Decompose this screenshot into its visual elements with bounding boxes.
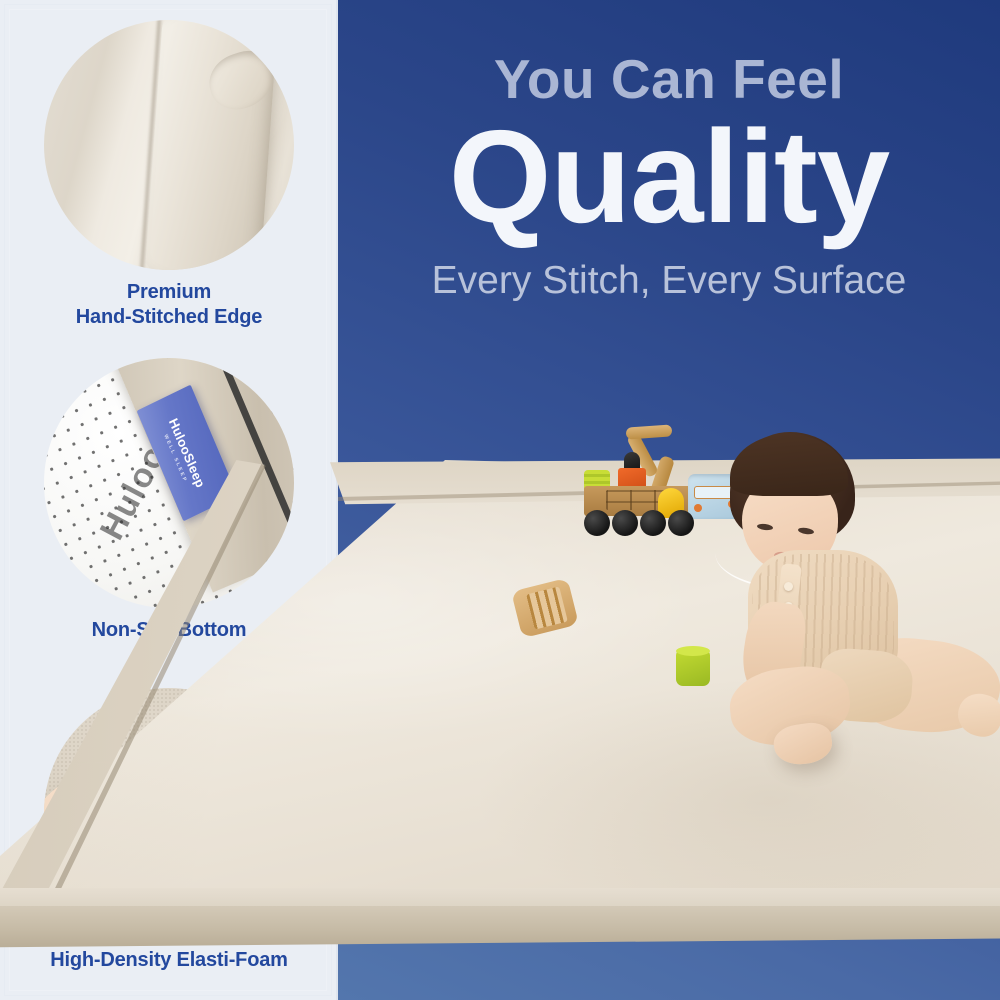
headline-subline: Every Stitch, Every Surface	[338, 261, 1000, 300]
feature-image-hand-stitched-edge	[44, 20, 294, 270]
feature-caption-hand-stitched-edge: Premium Hand-Stitched Edge	[0, 280, 338, 330]
headline-kicker: You Can Feel	[338, 52, 1000, 107]
feature-caption-non-slip-bottom: Non-Slip Bottom	[0, 618, 338, 643]
feature-card-high-density-elasti-foam: High-Density Elasti-Foam	[0, 688, 338, 973]
feature-card-non-slip-bottom: HulooSl HulooSleep WELL SLEEP Non-Slip B…	[0, 358, 338, 643]
headline-main-word: Quality	[338, 111, 1000, 243]
foam-photo	[44, 688, 294, 938]
feature-caption-elasti-foam: High-Density Elasti-Foam	[0, 948, 338, 973]
product-feature-poster: Premium Hand-Stitched Edge HulooSl Huloo…	[0, 0, 1000, 1000]
caption-line-2: Hand-Stitched Edge	[0, 305, 338, 330]
feature-panel: Premium Hand-Stitched Edge HulooSl Huloo…	[0, 0, 338, 1000]
non-slip-photo: HulooSl HulooSleep WELL SLEEP	[44, 358, 294, 608]
caption-line-1: Non-Slip Bottom	[0, 618, 338, 643]
hero-panel: You Can Feel Quality Every Stitch, Every…	[338, 0, 1000, 1000]
caption-line-1: Premium	[0, 280, 338, 305]
headline-block: You Can Feel Quality Every Stitch, Every…	[338, 0, 1000, 300]
feature-card-premium-hand-stitched-edge: Premium Hand-Stitched Edge	[0, 20, 338, 330]
feature-image-non-slip-bottom: HulooSl HulooSleep WELL SLEEP	[44, 358, 294, 608]
stitched-edge-photo	[44, 20, 294, 270]
feature-image-elasti-foam	[44, 688, 294, 938]
caption-line-1: High-Density Elasti-Foam	[0, 948, 338, 973]
